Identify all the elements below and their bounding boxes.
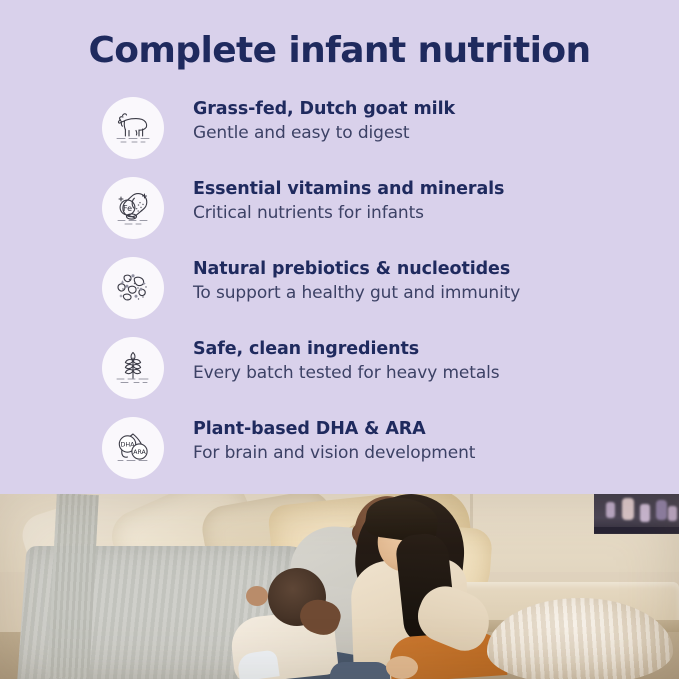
- feature-row: Safe, clean ingredients Every batch test…: [0, 332, 679, 412]
- feature-text: Plant-based DHA & ARA For brain and visi…: [193, 418, 663, 465]
- vitamin-capsule-iron-icon: Fe: [102, 177, 164, 239]
- feature-text: Natural prebiotics & nucleotides To supp…: [193, 258, 663, 305]
- feature-subtitle: Gentle and easy to digest: [193, 122, 663, 146]
- feature-text: Essential vitamins and minerals Critical…: [193, 178, 663, 225]
- feature-subtitle: Every batch tested for heavy metals: [193, 362, 663, 386]
- feature-text: Safe, clean ingredients Every batch test…: [193, 338, 663, 385]
- feature-title: Grass-fed, Dutch goat milk: [193, 98, 663, 122]
- infographic-panel: Complete infant nutrition: [0, 0, 679, 494]
- feature-row: Natural prebiotics & nucleotides To supp…: [0, 252, 679, 332]
- family-lifestyle-photo: [0, 494, 679, 679]
- dha-ara-molecule-icon: DHA ARA: [102, 417, 164, 479]
- feature-list: Grass-fed, Dutch goat milk Gentle and ea…: [0, 92, 679, 492]
- ara-label: ARA: [133, 449, 146, 456]
- feature-title: Natural prebiotics & nucleotides: [193, 258, 663, 282]
- feature-text: Grass-fed, Dutch goat milk Gentle and ea…: [193, 98, 663, 145]
- feature-title: Safe, clean ingredients: [193, 338, 663, 362]
- page-title: Complete infant nutrition: [0, 30, 679, 71]
- feature-subtitle: To support a healthy gut and immunity: [193, 282, 663, 306]
- feature-title: Essential vitamins and minerals: [193, 178, 663, 202]
- iron-symbol-label: Fe: [123, 204, 132, 213]
- feature-row: Fe Essential vitamins and minerals Criti…: [0, 172, 679, 252]
- wheat-stalk-icon: [102, 337, 164, 399]
- feature-subtitle: Critical nutrients for infants: [193, 202, 663, 226]
- photo-vignette: [0, 494, 679, 679]
- goat-icon: [102, 97, 164, 159]
- feature-title: Plant-based DHA & ARA: [193, 418, 663, 442]
- dha-label: DHA: [120, 441, 135, 449]
- feature-subtitle: For brain and vision development: [193, 442, 663, 466]
- feature-row: Grass-fed, Dutch goat milk Gentle and ea…: [0, 92, 679, 172]
- feature-row: DHA ARA Plant-based DHA & ARA For brain …: [0, 412, 679, 492]
- probiotic-bacteria-icon: [102, 257, 164, 319]
